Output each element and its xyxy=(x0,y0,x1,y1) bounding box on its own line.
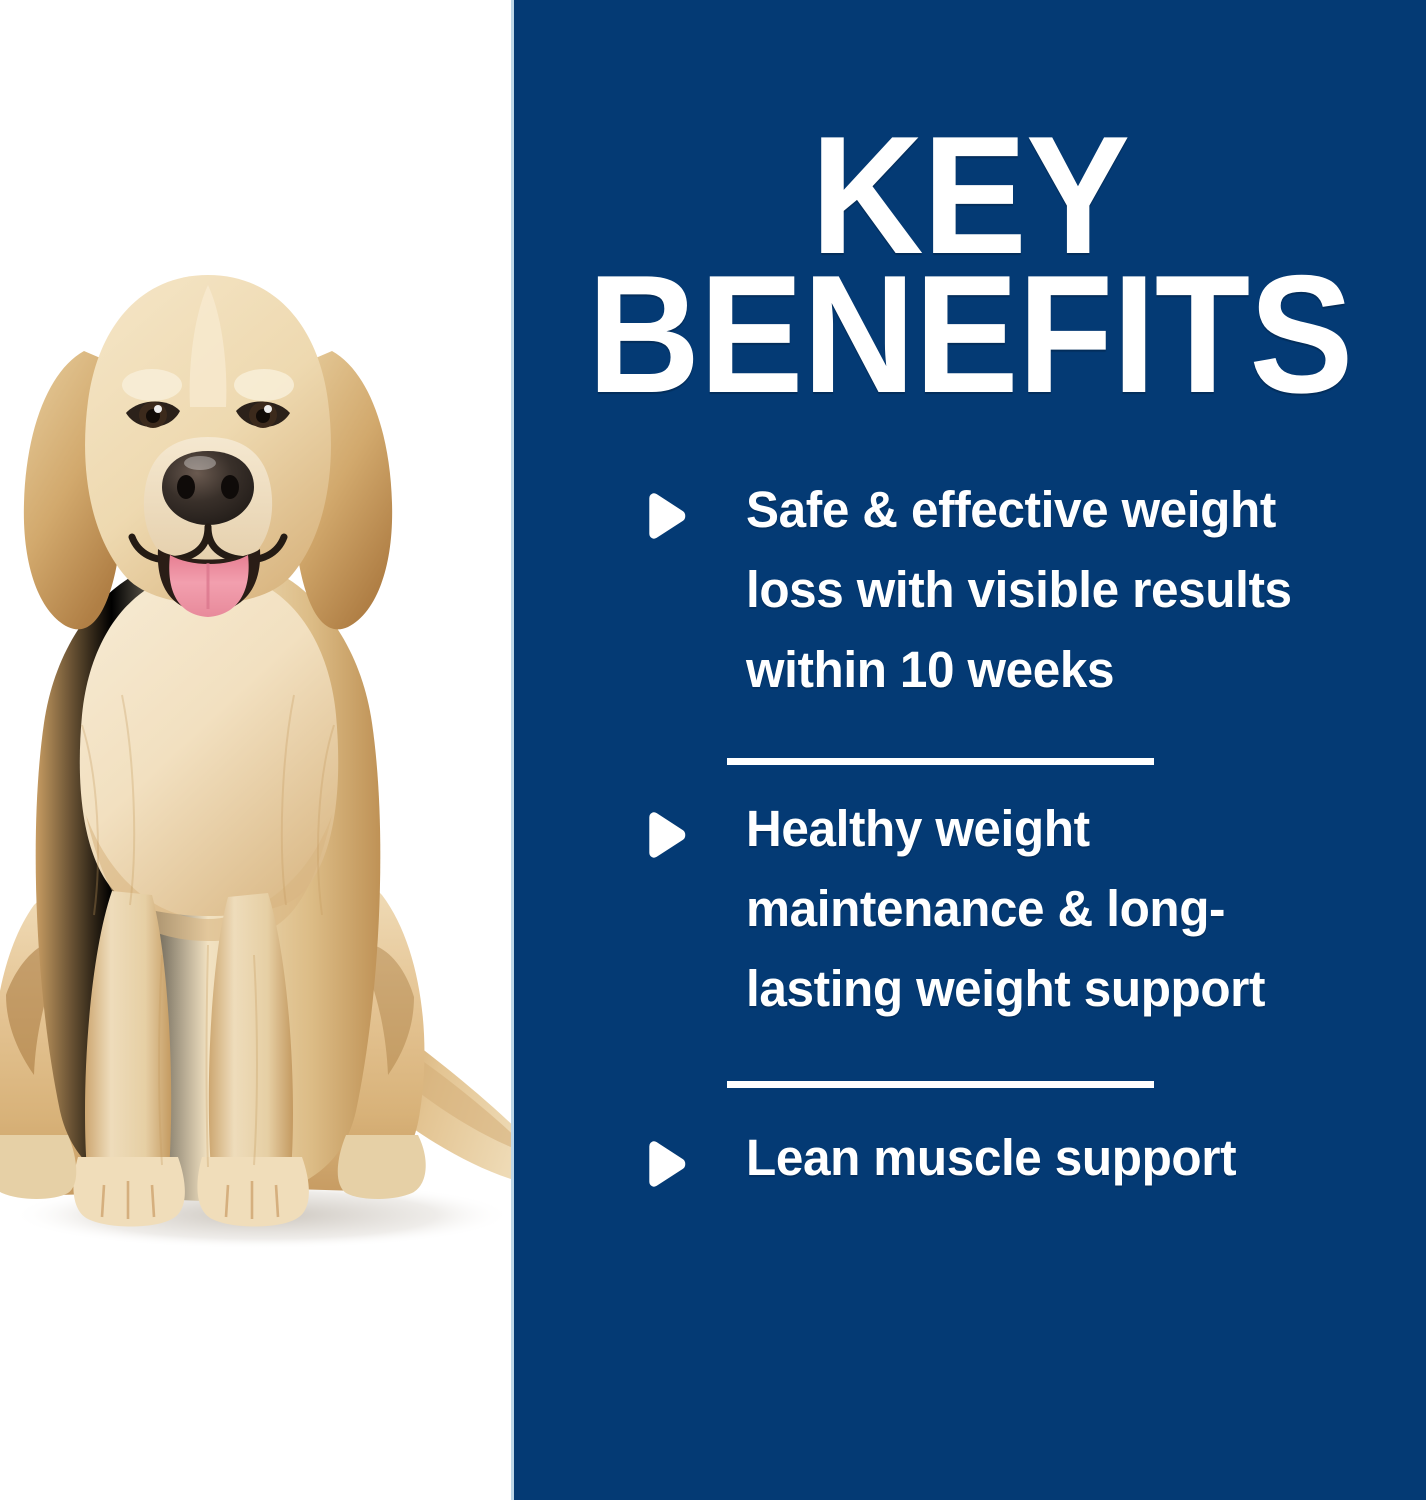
dog-rear-right-paw xyxy=(338,1135,426,1199)
play-triangle-icon xyxy=(640,811,688,861)
benefits-panel: KEY BENEFITS Safe & effective weight los… xyxy=(514,0,1426,1500)
dog-right-nostril xyxy=(221,475,239,499)
benefits-list: Safe & effective weight loss with visibl… xyxy=(514,470,1426,1198)
dog-chest-ruff xyxy=(80,571,338,916)
dog-right-brow xyxy=(234,369,294,401)
benefit-text-3: Lean muscle support xyxy=(746,1118,1361,1198)
product-photo-pane xyxy=(0,0,513,1500)
benefit-item-3: Lean muscle support xyxy=(514,1118,1426,1198)
benefit-item-2: Healthy weight maintenance & long-lastin… xyxy=(514,789,1426,1029)
benefit-divider-2 xyxy=(727,1081,1154,1088)
dog-left-nostril xyxy=(177,475,195,499)
play-triangle-icon xyxy=(640,492,688,542)
dog-nose-highlight xyxy=(184,456,216,470)
benefit-text-2: Healthy weight maintenance & long-lastin… xyxy=(746,789,1361,1029)
benefit-divider-1 xyxy=(727,758,1154,765)
dog-rear-left-paw xyxy=(0,1135,76,1199)
page-title: KEY BENEFITS xyxy=(546,126,1394,404)
benefit-text-1: Safe & effective weight loss with visibl… xyxy=(746,470,1361,710)
play-triangle-icon xyxy=(640,1140,688,1190)
golden-retriever-photo xyxy=(0,255,513,1265)
benefit-item-1: Safe & effective weight loss with visibl… xyxy=(514,470,1426,710)
key-benefits-panel-image: KEY BENEFITS Safe & effective weight los… xyxy=(0,0,1426,1500)
dog-left-brow xyxy=(122,369,182,401)
